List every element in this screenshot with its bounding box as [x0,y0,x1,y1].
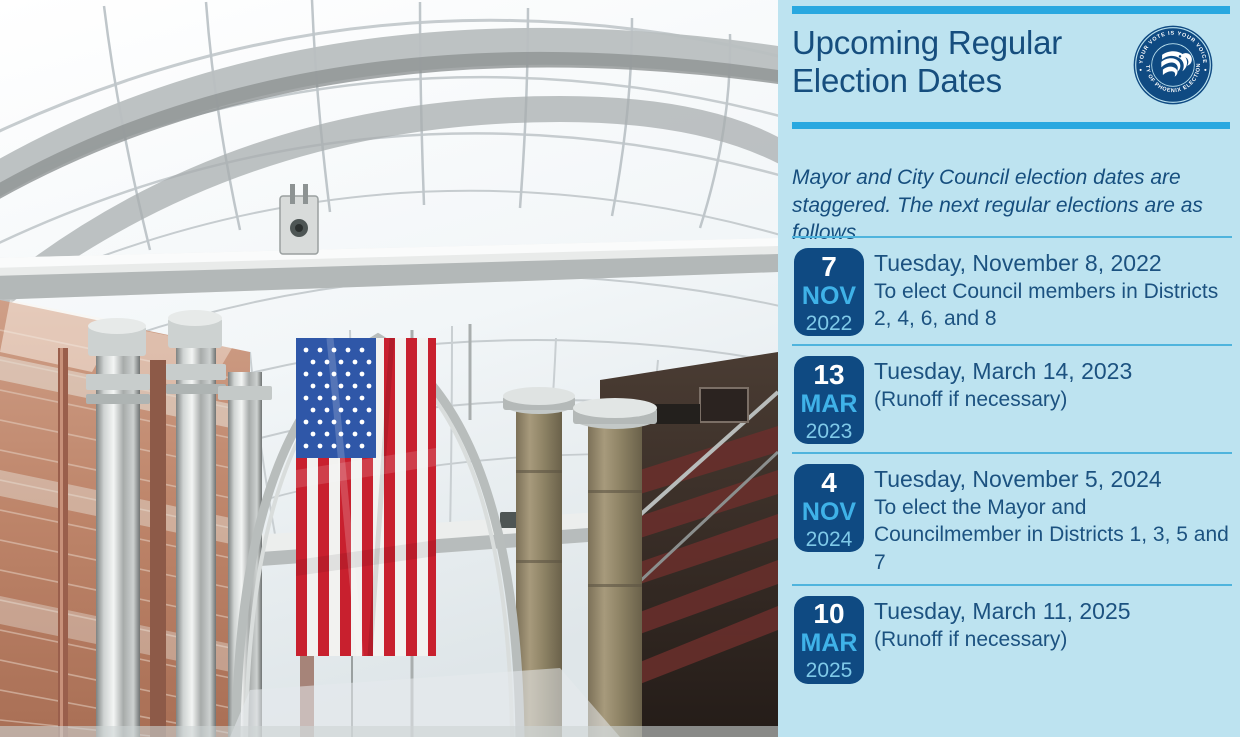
badge-day: 13 [813,361,844,389]
event-title: Tuesday, March 14, 2023 [874,358,1232,385]
date-badge: 4 NOV 2024 [794,464,864,552]
panel-header: Upcoming Regular Election Dates [792,22,1230,106]
date-badge: 10 MAR 2025 [794,596,864,684]
election-dates-list: 7 NOV 2022 Tuesday, November 8, 2022 To … [792,236,1232,737]
seal-svg: YOUR VOTE IS YOUR VOICE CITY OF PHOENIX … [1132,24,1214,106]
city-of-phoenix-elections-seal-icon: YOUR VOTE IS YOUR VOICE CITY OF PHOENIX … [1132,24,1214,106]
event-title: Tuesday, November 8, 2022 [874,250,1232,277]
event-body: Tuesday, November 8, 2022 To elect Counc… [874,248,1232,333]
badge-month: NOV [802,500,856,525]
list-item: 4 NOV 2024 Tuesday, November 5, 2024 To … [792,452,1232,584]
badge-month: MAR [801,392,858,417]
event-body: Tuesday, March 14, 2023 (Runoff if neces… [874,356,1232,413]
badge-day: 10 [813,600,844,628]
list-item: 13 MAR 2023 Tuesday, March 14, 2023 (Run… [792,344,1232,452]
atrium-illustration [0,0,778,737]
event-title: Tuesday, November 5, 2024 [874,466,1232,493]
badge-month: NOV [802,284,856,309]
event-title: Tuesday, March 11, 2025 [874,598,1232,625]
title-divider-bar [792,122,1230,129]
city-hall-atrium-photo [0,0,778,737]
page-title: Upcoming Regular Election Dates [792,22,1102,100]
date-badge: 13 MAR 2023 [794,356,864,444]
badge-year: 2024 [806,529,853,550]
event-description: To elect Council members in Districts 2,… [874,278,1232,333]
badge-month: MAR [801,631,858,656]
badge-year: 2022 [806,313,853,334]
election-dates-panel: Upcoming Regular Election Dates [778,0,1240,737]
list-item: 10 MAR 2025 Tuesday, March 11, 2025 (Run… [792,584,1232,692]
top-accent-bar [792,6,1230,14]
event-body: Tuesday, March 11, 2025 (Runoff if neces… [874,596,1232,653]
event-description: To elect the Mayor and Councilmember in … [874,494,1232,576]
date-badge: 7 NOV 2022 [794,248,864,336]
event-description: (Runoff if necessary) [874,386,1232,413]
badge-year: 2025 [806,660,853,681]
event-body: Tuesday, November 5, 2024 To elect the M… [874,464,1232,576]
badge-day: 4 [821,469,837,497]
list-item: 7 NOV 2022 Tuesday, November 8, 2022 To … [792,236,1232,344]
badge-day: 7 [821,253,837,281]
event-description: (Runoff if necessary) [874,626,1232,653]
intro-text: Mayor and City Council election dates ar… [792,164,1220,247]
election-dates-graphic: Upcoming Regular Election Dates [0,0,1240,737]
badge-year: 2023 [806,421,853,442]
